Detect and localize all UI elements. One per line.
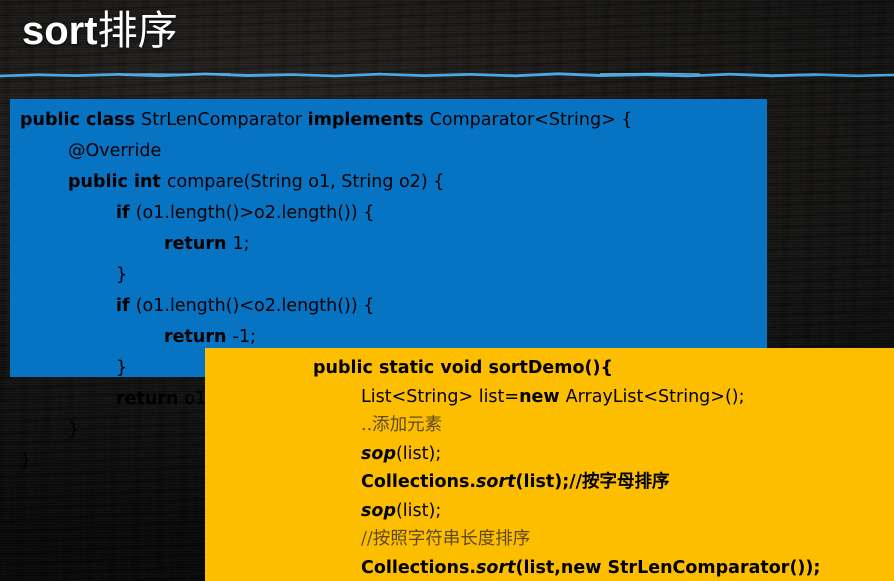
code-line: public static void sortDemo(){ [205,354,894,383]
code-token: (o1.length()>o2.length()) { [136,203,375,223]
code-token: 1; [233,234,250,254]
code-line: //按照字符串长度排序 [205,525,894,554]
page-title-latin: sort [22,9,98,53]
code-token: -1; [233,327,256,347]
slide-canvas: sort排序 public class StrLenComparator imp… [0,0,894,581]
code-block-sort-demo: public static void sortDemo(){List<Strin… [205,348,894,581]
code-token: } [68,420,79,440]
code-token: sort [476,558,515,578]
code-token: return [116,389,185,409]
code-token: ..添加元素 [361,415,442,435]
code-line: sop(list); [205,497,894,526]
accent-divider-line [0,69,894,79]
code-token: if [116,296,136,316]
code-token: Comparator<String> { [430,110,633,130]
code-line: return 1; [10,229,767,260]
code-line: if (o1.length()>o2.length()) { [10,198,767,229]
code-token: //按字母排序 [569,472,669,492]
code-line: if (o1.length()<o2.length()) { [10,291,767,322]
code-block-comparator-class: public class StrLenComparator implements… [10,99,767,377]
code-token: sop [361,444,396,464]
code-line: } [10,260,767,291]
code-token: compare(String o1, String o2) { [167,172,445,192]
code-token: sortDemo(){ [488,358,613,378]
code-token: public static void [313,358,488,378]
code-token: } [20,451,31,471]
code-line: public class StrLenComparator implements… [10,105,767,136]
code-token: } [116,358,127,378]
code-token: (o1.length()<o2.length()) { [136,296,375,316]
code-token: sort [476,472,515,492]
code-token: public class [20,110,141,130]
code-token: List<String> list= [361,387,519,407]
page-title: sort排序 [22,2,178,60]
code-line: ..添加元素 [205,411,894,440]
code-line: Collections.sort(list);//按字母排序 [205,468,894,497]
code-token: Collections. [361,558,476,578]
code-token: @Override [68,141,161,161]
code-token: sop [361,501,396,521]
code-token: (list,new StrLenComparator()); [515,558,820,578]
code-line: @Override [10,136,767,167]
code-token: implements [308,110,430,130]
code-token: return [164,327,233,347]
code-token: public int [68,172,167,192]
code-line: sop(list); [205,440,894,469]
code-token: if [116,203,136,223]
code-token: Collections. [361,472,476,492]
code-token: //按照字符串长度排序 [361,529,530,549]
page-title-cjk: 排序 [98,8,178,54]
code-token: new [519,387,566,407]
code-token: (list); [396,444,441,464]
code-line: List<String> list=new ArrayList<String>(… [205,383,894,412]
code-token: (list); [396,501,441,521]
code-line: public int compare(String o1, String o2)… [10,167,767,198]
code-line: Collections.sort(list,new StrLenComparat… [205,554,894,581]
code-token: return [164,234,233,254]
code-token: } [116,265,127,285]
code-token: (list); [515,472,569,492]
code-token: StrLenComparator [141,110,308,130]
code-token: ArrayList<String>(); [566,387,745,407]
